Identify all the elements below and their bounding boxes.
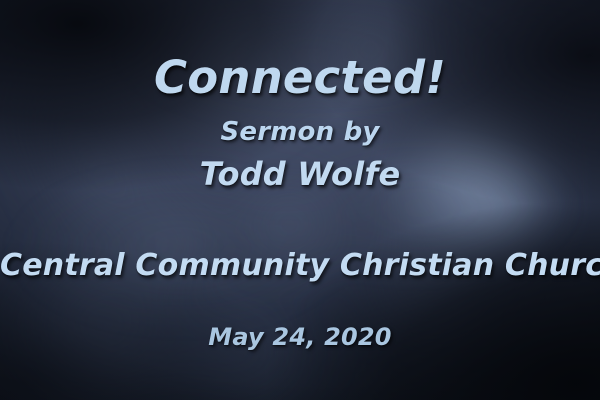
slide-text-content: Connected! Sermon by Todd Wolfe Central …	[0, 0, 600, 400]
sermon-byline-label: Sermon by	[0, 117, 600, 147]
organization-name: Central Community Christian Church	[0, 248, 600, 284]
sermon-date: May 24, 2020	[0, 322, 600, 352]
sermon-title-slide: Connected! Sermon by Todd Wolfe Central …	[0, 0, 600, 400]
speaker-name: Todd Wolfe	[0, 155, 600, 193]
sermon-title: Connected!	[0, 52, 600, 104]
